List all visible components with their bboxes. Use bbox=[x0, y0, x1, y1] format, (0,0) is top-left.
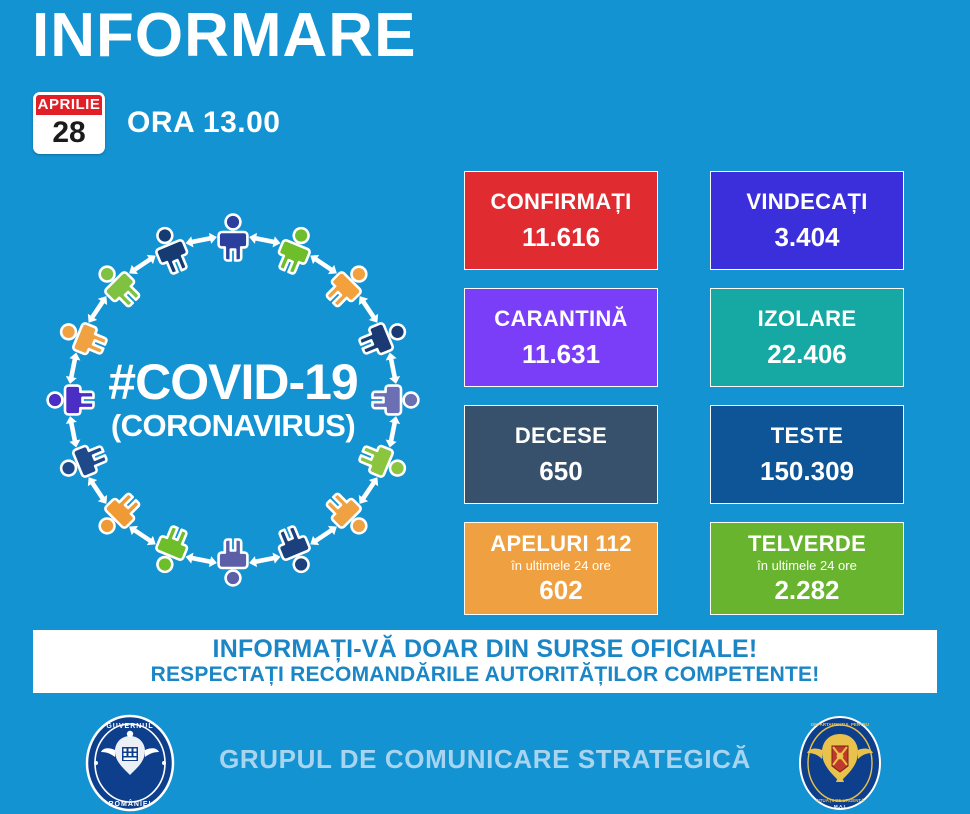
calendar-month: APRILIE bbox=[36, 95, 102, 115]
svg-text:SITUAȚII DE URGENȚĂ: SITUAȚII DE URGENȚĂ bbox=[816, 798, 865, 803]
dsu-mai-emblem-icon: DEPARTAMENTUL PENTRU SITUAȚII DE URGENȚĂ… bbox=[790, 714, 890, 812]
person-figure bbox=[149, 523, 193, 576]
distance-arrow-icon bbox=[307, 251, 340, 278]
distance-arrow-icon bbox=[184, 231, 218, 248]
calendar-icon: APRILIE 28 bbox=[33, 92, 105, 154]
stat-card-confirmati[interactable]: CONFIRMAȚI 11.616 bbox=[464, 171, 658, 270]
stat-value: 11.616 bbox=[522, 223, 600, 252]
distance-arrow-icon bbox=[184, 551, 218, 568]
distance-arrow-icon bbox=[355, 293, 382, 326]
person-figure bbox=[219, 540, 248, 586]
distance-arrow-icon bbox=[248, 231, 282, 248]
stat-note: în ultimele 24 ore bbox=[757, 558, 857, 574]
stat-label: DECESE bbox=[515, 424, 607, 448]
stat-value: 602 bbox=[539, 576, 582, 605]
distance-arrow-icon bbox=[126, 251, 159, 278]
distance-arrow-icon bbox=[248, 551, 282, 568]
stat-card-decese[interactable]: DECESE 650 bbox=[464, 405, 658, 504]
person-figure bbox=[56, 440, 109, 484]
person-figure bbox=[48, 386, 94, 415]
calendar-day: 28 bbox=[36, 115, 102, 151]
stat-label: TELVERDE bbox=[748, 532, 866, 556]
stat-label: APELURI 112 bbox=[490, 532, 631, 556]
distance-arrow-icon bbox=[64, 415, 81, 449]
stat-card-apeluri-112[interactable]: APELURI 112 în ultimele 24 ore 602 bbox=[464, 522, 658, 615]
person-figure bbox=[149, 223, 193, 276]
distance-arrow-icon bbox=[84, 474, 111, 507]
stat-label: TESTE bbox=[771, 424, 843, 448]
stat-label: CARANTINĂ bbox=[494, 307, 627, 331]
infographic-page: INFORMARE APRILIE 28 ORA 13.00 #COVID-19… bbox=[0, 0, 970, 814]
date-bar: APRILIE 28 ORA 13.00 bbox=[33, 92, 280, 154]
stat-value: 22.406 bbox=[767, 340, 847, 369]
distance-arrow-icon bbox=[384, 351, 401, 385]
distance-arrow-icon bbox=[64, 351, 81, 385]
official-sources-banner: INFORMAȚI-VĂ DOAR DIN SURSE OFICIALE! RE… bbox=[33, 630, 937, 693]
svg-text:GUVERNUL: GUVERNUL bbox=[106, 723, 153, 730]
person-figure bbox=[219, 215, 248, 261]
distance-arrow-icon bbox=[384, 415, 401, 449]
stat-label: VINDECAȚI bbox=[746, 190, 867, 214]
svg-text:M.A.I.: M.A.I. bbox=[834, 804, 846, 809]
svg-text:DEPARTAMENTUL PENTRU: DEPARTAMENTUL PENTRU bbox=[811, 722, 869, 727]
person-figure bbox=[373, 386, 419, 415]
stat-label: CONFIRMAȚI bbox=[490, 190, 631, 214]
banner-line-1: INFORMAȚI-VĂ DOAR DIN SURSE OFICIALE! bbox=[213, 635, 758, 663]
stat-value: 11.631 bbox=[522, 340, 600, 369]
distance-arrow-icon bbox=[355, 474, 382, 507]
distance-arrow-icon bbox=[307, 522, 340, 549]
stat-note: în ultimele 24 ore bbox=[511, 558, 611, 574]
person-figure bbox=[273, 223, 317, 276]
stat-card-carantina[interactable]: CARANTINĂ 11.631 bbox=[464, 288, 658, 387]
person-figure bbox=[273, 523, 317, 576]
banner-line-2: RESPECTAȚI RECOMANDĂRILE AUTORITĂȚILOR C… bbox=[151, 663, 820, 687]
hour-label: ORA 13.00 bbox=[127, 106, 280, 140]
stat-label: IZOLARE bbox=[758, 307, 857, 331]
page-title: INFORMARE bbox=[32, 2, 416, 70]
stat-value: 650 bbox=[539, 457, 582, 486]
stat-card-teste[interactable]: TESTE 150.309 bbox=[710, 405, 904, 504]
stat-card-vindecati[interactable]: VINDECAȚI 3.404 bbox=[710, 171, 904, 270]
circle-figures-svg bbox=[18, 185, 448, 615]
stat-value: 2.282 bbox=[774, 576, 839, 605]
stat-value: 150.309 bbox=[760, 457, 854, 486]
distance-arrow-icon bbox=[126, 522, 159, 549]
person-figure bbox=[56, 316, 109, 360]
stat-value: 3.404 bbox=[774, 223, 839, 252]
stat-card-izolare[interactable]: IZOLARE 22.406 bbox=[710, 288, 904, 387]
stat-card-telverde[interactable]: TELVERDE în ultimele 24 ore 2.282 bbox=[710, 522, 904, 615]
person-figure bbox=[356, 316, 409, 360]
stats-grid: CONFIRMAȚI 11.616 VINDECAȚI 3.404 CARANT… bbox=[464, 171, 904, 615]
social-distancing-circle-icon: #COVID-19 (CORONAVIRUS) bbox=[18, 185, 448, 615]
svg-text:ROMÂNIEI: ROMÂNIEI bbox=[109, 799, 152, 808]
person-figure bbox=[356, 440, 409, 484]
distance-arrow-icon bbox=[84, 293, 111, 326]
